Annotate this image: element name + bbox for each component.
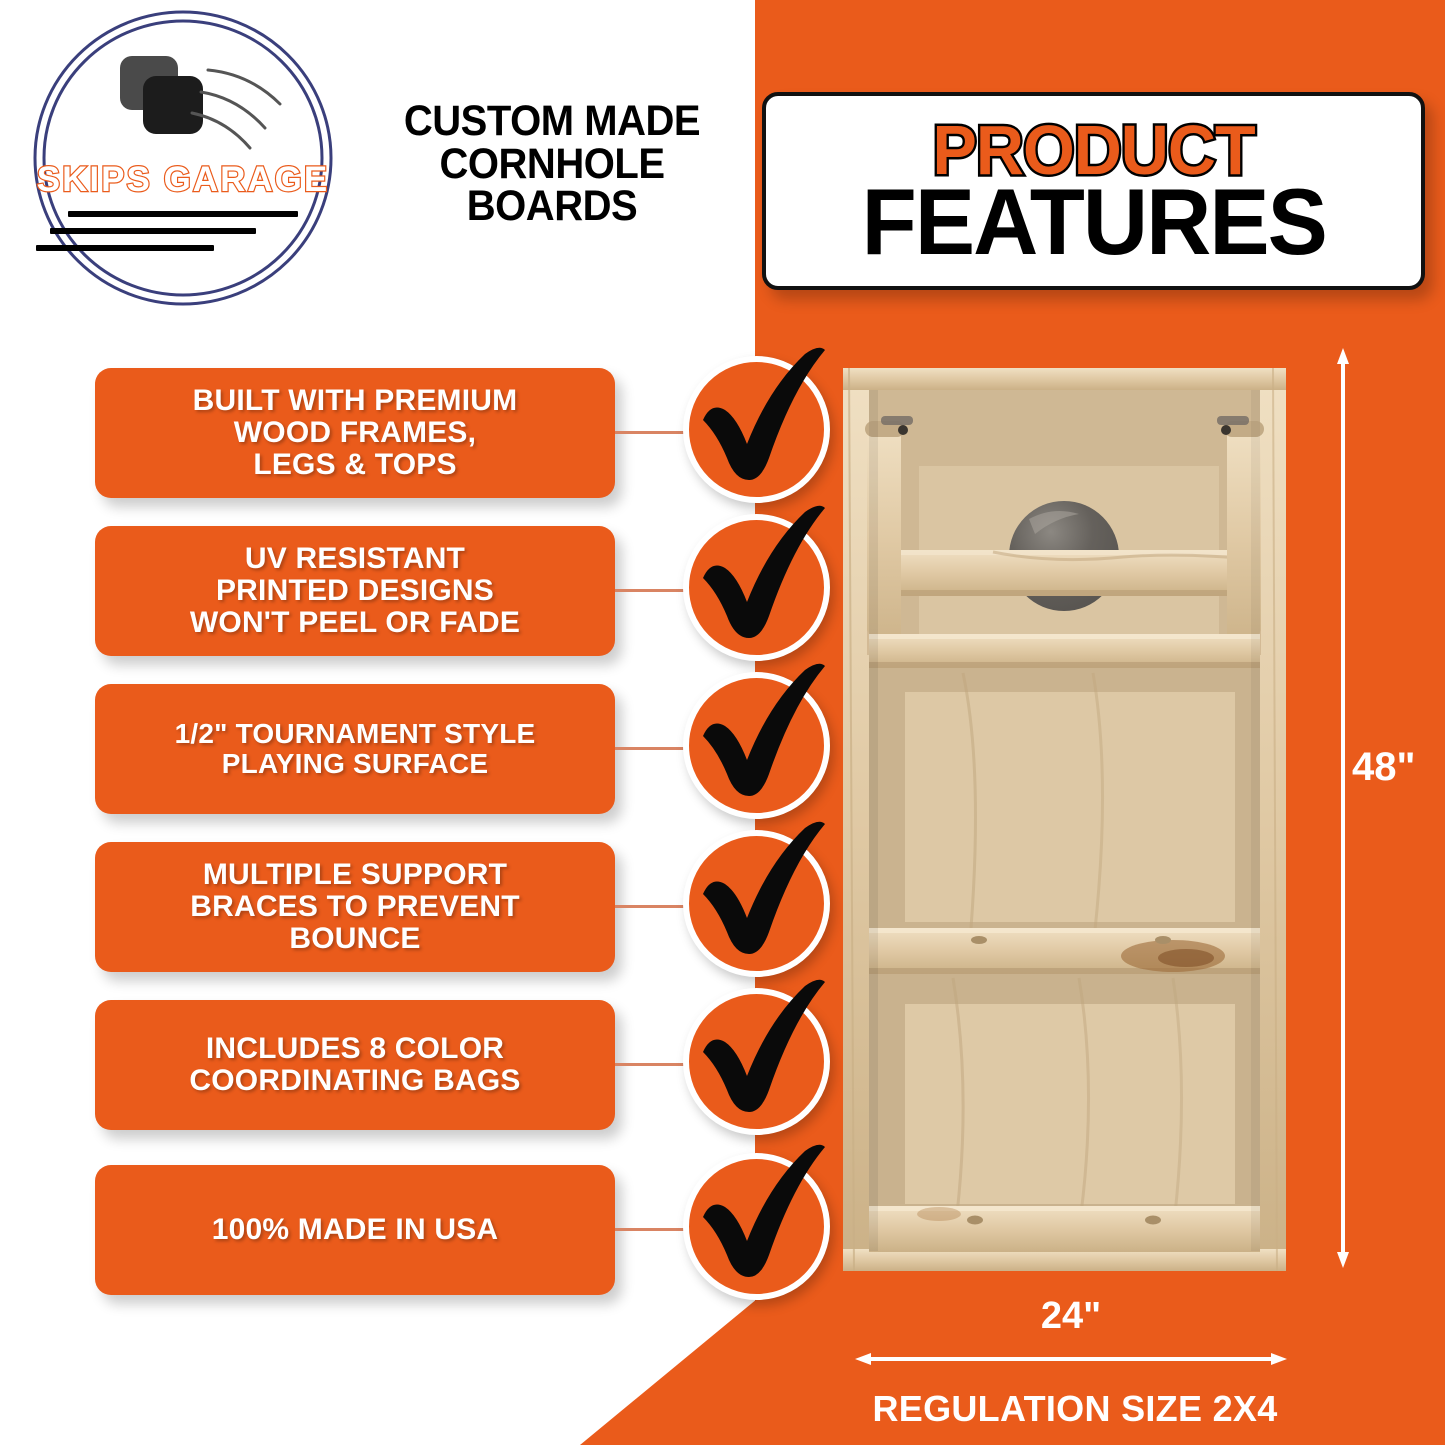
feature-pill-text: UV RESISTANTPRINTED DESIGNSWON'T PEEL OR… <box>190 543 520 638</box>
orange-diagonal-wedge <box>580 1280 780 1445</box>
page-title-line-2: CORNHOLE <box>366 143 738 186</box>
page-title: CUSTOM MADE CORNHOLE BOARDS <box>366 100 738 228</box>
page-title-line-3: BOARDS <box>366 185 738 228</box>
logo-wordmark-garage: GARAGE <box>164 160 330 199</box>
feature-pill[interactable]: MULTIPLE SUPPORTBRACES TO PREVENTBOUNCE <box>95 842 615 972</box>
feature-row-made-in-usa[interactable]: 100% MADE IN USA <box>0 1165 840 1295</box>
check-circle <box>683 356 830 503</box>
width-dimension-label: 24" <box>855 1295 1287 1338</box>
check-circle <box>683 830 830 977</box>
check-circle <box>683 988 830 1135</box>
feature-pill-text: MULTIPLE SUPPORTBRACES TO PREVENTBOUNCE <box>190 859 520 954</box>
brand-logo: SKIPS GARAGE <box>18 8 348 308</box>
check-circle <box>683 514 830 661</box>
feature-row-tournament-surface[interactable]: 1/2" TOURNAMENT STYLEPLAYING SURFACE <box>0 684 840 814</box>
feature-row-uv-resistant[interactable]: UV RESISTANTPRINTED DESIGNSWON'T PEEL OR… <box>0 526 840 656</box>
feature-pill-text: INCLUDES 8 COLORCOORDINATING BAGS <box>189 1033 520 1097</box>
infographic-page: SKIPS GARAGE CUSTOM MADE CORNHOLE BOARDS… <box>0 0 1445 1445</box>
height-dimension-label: 48" <box>1352 745 1415 790</box>
feature-row-premium-wood[interactable]: BUILT WITH PREMIUMWOOD FRAMES,LEGS & TOP… <box>0 368 840 498</box>
width-dimension-arrow <box>855 1352 1287 1366</box>
feature-pill-text: 100% MADE IN USA <box>212 1214 499 1246</box>
check-circle <box>683 1153 830 1300</box>
page-title-line-1: CUSTOM MADE <box>366 100 738 143</box>
feature-pill-text: BUILT WITH PREMIUMWOOD FRAMES,LEGS & TOP… <box>193 385 518 480</box>
feature-row-support-braces[interactable]: MULTIPLE SUPPORTBRACES TO PREVENTBOUNCE <box>0 842 840 972</box>
feature-pill[interactable]: 1/2" TOURNAMENT STYLEPLAYING SURFACE <box>95 684 615 814</box>
logo-wordmark: SKIPS GARAGE <box>18 160 348 200</box>
logo-wordmark-skips: SKIPS <box>37 160 152 199</box>
feature-pill[interactable]: INCLUDES 8 COLORCOORDINATING BAGS <box>95 1000 615 1130</box>
feature-pill[interactable]: 100% MADE IN USA <box>95 1165 615 1295</box>
product-image-cornhole-board <box>843 368 1286 1271</box>
product-features-badge: PRODUCT FEATURES <box>762 92 1425 290</box>
feature-pill[interactable]: BUILT WITH PREMIUMWOOD FRAMES,LEGS & TOP… <box>95 368 615 498</box>
badge-word-features: FEATURES <box>861 179 1325 265</box>
feature-pill[interactable]: UV RESISTANTPRINTED DESIGNSWON'T PEEL OR… <box>95 526 615 656</box>
logo-badge-icon <box>18 8 348 308</box>
check-circle <box>683 672 830 819</box>
feature-row-included-bags[interactable]: INCLUDES 8 COLORCOORDINATING BAGS <box>0 1000 840 1130</box>
feature-pill-text: 1/2" TOURNAMENT STYLEPLAYING SURFACE <box>175 719 536 778</box>
logo-underline-rules <box>18 211 348 262</box>
height-dimension-arrow <box>1336 348 1350 1268</box>
regulation-size-label: REGULATION SIZE 2X4 <box>830 1388 1320 1430</box>
